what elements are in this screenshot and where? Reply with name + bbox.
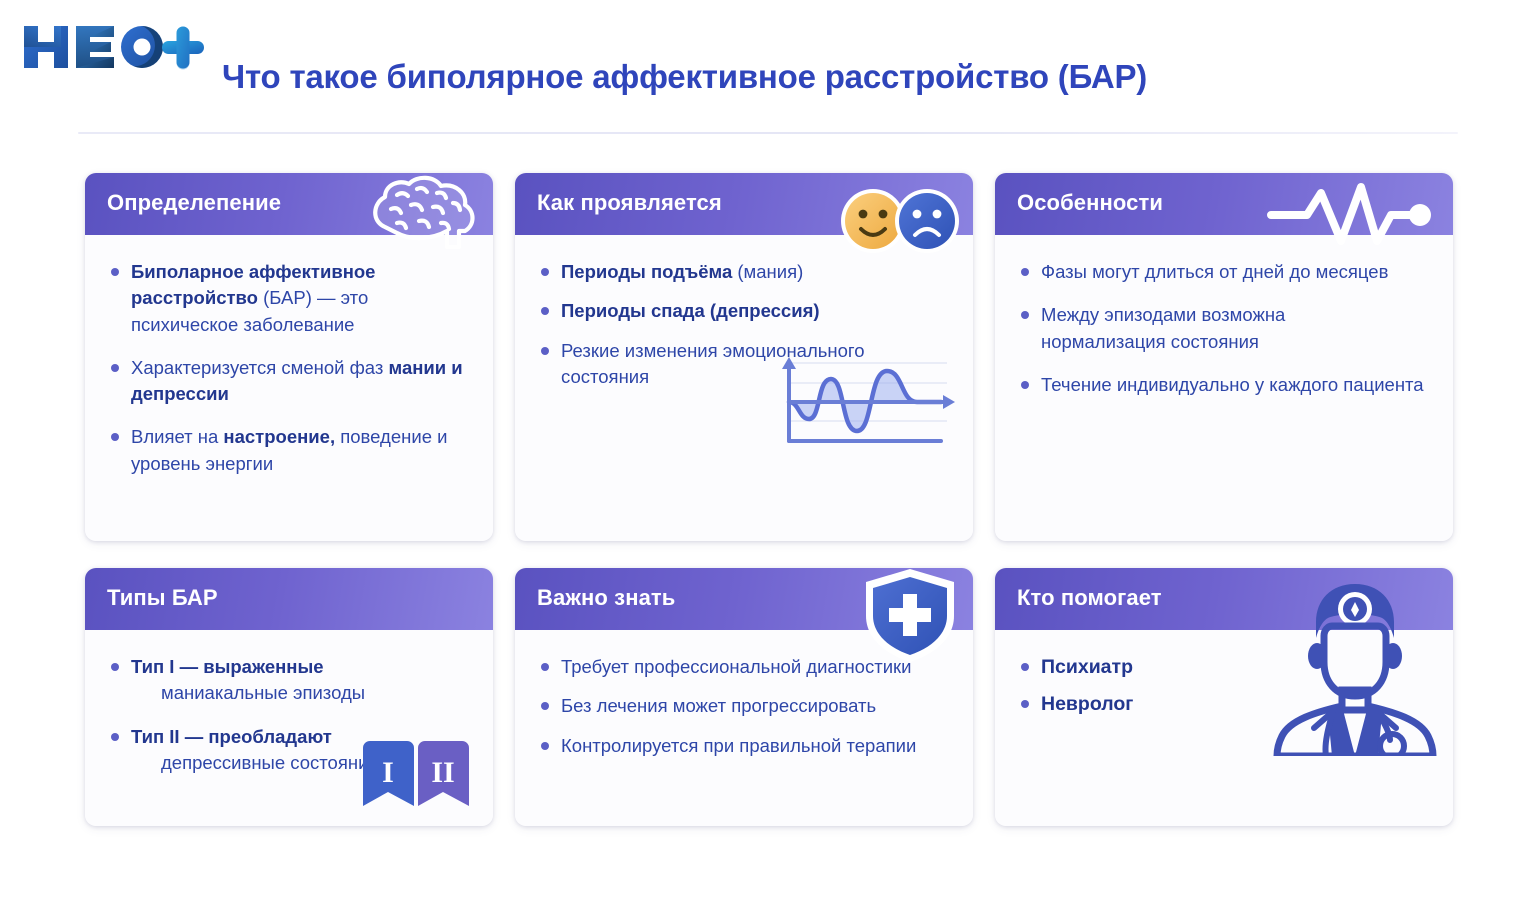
neo-plus-logo[interactable] — [18, 18, 208, 76]
list-item: Без лечения может прогрессировать — [539, 693, 949, 719]
card-title: Как проявляется — [537, 190, 722, 216]
bullet-text: Контролируется при правильной терапии — [561, 735, 916, 756]
card-manifestation[interactable]: Как проявляется Периоды подъёма (мания) … — [515, 173, 973, 541]
list-item: Между эпизодами возможна нормализация со… — [1019, 302, 1319, 355]
bullet-bold-text: Тип I — выраженные — [131, 656, 324, 677]
badge-label-one: I — [382, 756, 394, 789]
list-item: Фазы могут длиться от дней до месяцев — [1019, 259, 1429, 285]
badge-label-two: II — [431, 756, 454, 789]
mood-wave-chart — [769, 345, 959, 455]
list-item: Биполарное аффективное расстройство (БАР… — [109, 259, 469, 338]
bullet-bold-text: Периоды подъёма — [561, 261, 737, 282]
brain-icon — [367, 169, 487, 261]
bullet-text: Характеризуется сменой фаз — [131, 357, 389, 378]
shield-cross-icon — [859, 566, 961, 666]
bullet-text: Фазы могут длиться от дней до месяцев — [1041, 261, 1388, 282]
card-header-types: Типы БАР — [85, 568, 493, 630]
bullet-text: Невролог — [1041, 693, 1133, 715]
list-item: Влияет на настроение, поведение и уровен… — [109, 424, 469, 477]
list-item: Течение индивидуально у каждого пациента — [1019, 372, 1429, 398]
doctor-icon — [1268, 578, 1443, 756]
card-definition[interactable]: Определепение Биполарное аффективное рас… — [85, 173, 493, 541]
ecg-heartbeat-icon — [1265, 179, 1445, 255]
bullet-text: Течение индивидуально у каждого пациента — [1041, 374, 1424, 395]
list-item: Периоды подъёма (мания) — [539, 259, 949, 285]
happy-sad-faces-icon — [837, 187, 963, 255]
bullet-subtext: маниакальные эпизоды — [131, 680, 469, 706]
bullet-list: Биполарное аффективное расстройство (БАР… — [109, 259, 469, 477]
bullet-text: Психиатр — [1041, 656, 1133, 678]
list-item: Характеризуется сменой фаз мании и депре… — [109, 355, 469, 408]
card-who-helps[interactable]: Кто помогает Психиатр Невролог — [995, 568, 1453, 826]
page-header: Что такое биполярное аффективное расстро… — [0, 0, 1536, 140]
bullet-text: Без лечения может прогрессировать — [561, 695, 876, 716]
bullet-list: Фазы могут длиться от дней до месяцев Ме… — [1019, 259, 1429, 398]
list-item: Контролируется при правильной терапии — [539, 733, 949, 759]
card-important[interactable]: Важно знать Требует профессиональной диа… — [515, 568, 973, 826]
bullet-text: Между эпизодами возможна нормализация со… — [1041, 304, 1285, 351]
card-title: Особенности — [1017, 190, 1163, 216]
card-features[interactable]: Особенности Фазы могут длиться от дней д… — [995, 173, 1453, 541]
bullet-text: Влияет на — [131, 426, 223, 447]
card-body-features: Фазы могут длиться от дней до месяцев Ме… — [995, 235, 1453, 541]
list-item: Тип I — выраженные маниакальные эпизоды — [109, 654, 469, 707]
bullet-list: Требует профессиональной диагностики Без… — [539, 654, 949, 759]
card-title: Важно знать — [537, 585, 675, 611]
bullet-bold-text: Тип II — преобладают — [131, 726, 332, 747]
bullet-text: (мания) — [737, 261, 803, 282]
card-title: Кто помогает — [1017, 585, 1162, 611]
card-title: Определепение — [107, 190, 281, 216]
card-title: Типы БАР — [107, 585, 218, 611]
list-item: Периоды спада (депрессия) — [539, 298, 949, 324]
header-divider — [78, 132, 1458, 134]
bullet-bold-text: настроение, — [223, 426, 335, 447]
bullet-bold-text: Периоды спада (депрессия) — [561, 300, 820, 321]
type-one-two-badges-icon: I II — [361, 740, 471, 808]
page-title: Что такое биполярное аффективное расстро… — [222, 58, 1147, 96]
card-types[interactable]: Типы БАР Тип I — выраженные маниакальные… — [85, 568, 493, 826]
card-body-definition: Биполарное аффективное расстройство (БАР… — [85, 235, 493, 541]
